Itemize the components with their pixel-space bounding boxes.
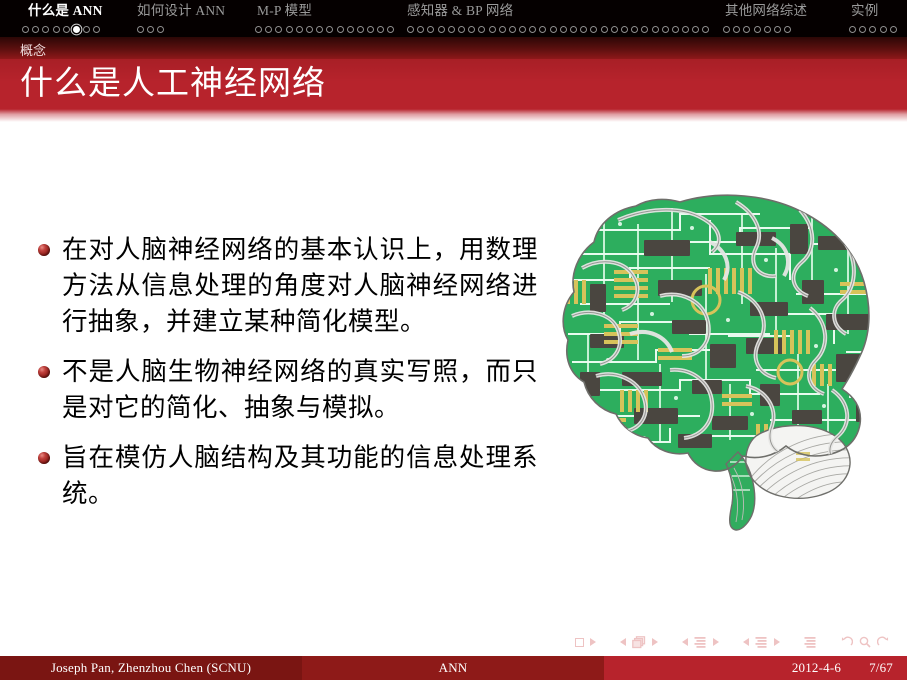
- nav-section-dots-5[interactable]: [849, 22, 900, 36]
- frame-next-icon[interactable]: [652, 638, 658, 646]
- nav-dot[interactable]: [764, 26, 771, 33]
- bullet-marker-icon: [38, 366, 50, 378]
- nav-dot[interactable]: [499, 26, 506, 33]
- section-navigation-items: 什么是 ANN如何设计 ANNM-P 模型感知器 & BP 网络其他网络综述实例: [0, 0, 907, 37]
- nav-dot[interactable]: [22, 26, 29, 33]
- nav-section-dots-1[interactable]: [137, 22, 168, 36]
- nav-section-label: 其他网络综述: [725, 3, 807, 18]
- nav-section-label: 如何设计 ANN: [137, 3, 225, 18]
- nav-dot[interactable]: [407, 26, 414, 33]
- nav-dot[interactable]: [859, 26, 866, 33]
- nav-section-2[interactable]: M-P 模型: [257, 0, 312, 18]
- nav-dot[interactable]: [723, 26, 730, 33]
- nav-dot[interactable]: [621, 26, 628, 33]
- subsection-title: 概念: [20, 40, 46, 59]
- nav-dot[interactable]: [489, 26, 496, 33]
- nav-dot-current[interactable]: [73, 26, 80, 33]
- nav-dot[interactable]: [560, 26, 567, 33]
- nav-dot[interactable]: [147, 26, 154, 33]
- search-icon[interactable]: [859, 636, 871, 648]
- footer-title: ANN: [302, 656, 604, 680]
- section-next-icon[interactable]: [774, 638, 780, 646]
- nav-dot[interactable]: [733, 26, 740, 33]
- page-title: 什么是人工神经网络: [20, 63, 326, 105]
- nav-dot[interactable]: [275, 26, 282, 33]
- section-prev-icon[interactable]: [743, 638, 749, 646]
- nav-dot[interactable]: [519, 26, 526, 33]
- subsection-bar: 概念: [0, 37, 907, 59]
- nav-dot[interactable]: [326, 26, 333, 33]
- nav-dot[interactable]: [286, 26, 293, 33]
- bullet-text: 不是人脑生物神经网络的真实写照，而只是对它的简化、抽象与模拟。: [62, 354, 538, 426]
- nav-dot[interactable]: [296, 26, 303, 33]
- nav-dot[interactable]: [137, 26, 144, 33]
- nav-dot[interactable]: [438, 26, 445, 33]
- nav-dot[interactable]: [869, 26, 876, 33]
- footer-meta: 2012-4-6 7/67: [604, 656, 907, 680]
- bullet-item: 旨在模仿人脑结构及其功能的信息处理系统。: [38, 440, 538, 512]
- nav-dot[interactable]: [539, 26, 546, 33]
- slide-root: 什么是 ANN如何设计 ANNM-P 模型感知器 & BP 网络其他网络综述实例…: [0, 0, 907, 680]
- nav-dot[interactable]: [849, 26, 856, 33]
- nav-dot[interactable]: [652, 26, 659, 33]
- nav-section-1[interactable]: 如何设计 ANN: [137, 0, 225, 18]
- nav-dot[interactable]: [377, 26, 384, 33]
- nav-dot[interactable]: [590, 26, 597, 33]
- nav-dot[interactable]: [682, 26, 689, 33]
- nav-dot[interactable]: [631, 26, 638, 33]
- nav-dot[interactable]: [774, 26, 781, 33]
- document-icon[interactable]: [804, 636, 817, 649]
- nav-dot[interactable]: [157, 26, 164, 33]
- nav-dot[interactable]: [784, 26, 791, 33]
- nav-dot[interactable]: [478, 26, 485, 33]
- section-navigation-bar: 什么是 ANN如何设计 ANNM-P 模型感知器 & BP 网络其他网络综述实例: [0, 0, 907, 37]
- bullet-list: 在对人脑神经网络的基本认识上，用数理方法从信息处理的角度对人脑神经网络进行抽象，…: [38, 232, 538, 526]
- nav-dot[interactable]: [611, 26, 618, 33]
- nav-dot[interactable]: [754, 26, 761, 33]
- nav-dot[interactable]: [601, 26, 608, 33]
- frame-title-bar: 什么是人工神经网络: [0, 59, 907, 109]
- nav-dot[interactable]: [337, 26, 344, 33]
- subsection-next-icon[interactable]: [713, 638, 719, 646]
- nav-dot[interactable]: [692, 26, 699, 33]
- nav-dot[interactable]: [53, 26, 60, 33]
- slide-footer: Joseph Pan, Zhenzhou Chen (SCNU) ANN 201…: [0, 656, 907, 680]
- brain-circuit-fill: [560, 184, 900, 544]
- frame-icon[interactable]: [632, 636, 646, 649]
- nav-section-5[interactable]: 实例: [851, 0, 878, 18]
- bullet-text: 在对人脑神经网络的基本认识上，用数理方法从信息处理的角度对人脑神经网络进行抽象，…: [62, 232, 538, 340]
- nav-dot[interactable]: [458, 26, 465, 33]
- nav-dot[interactable]: [387, 26, 394, 33]
- nav-dot[interactable]: [265, 26, 272, 33]
- nav-section-dots-4[interactable]: [723, 22, 794, 36]
- nav-dot[interactable]: [509, 26, 516, 33]
- nav-dot[interactable]: [448, 26, 455, 33]
- nav-dot[interactable]: [529, 26, 536, 33]
- nav-section-3[interactable]: 感知器 & BP 网络: [407, 0, 513, 18]
- nav-dot[interactable]: [743, 26, 750, 33]
- nav-section-dots-3[interactable]: [407, 22, 713, 36]
- nav-dot[interactable]: [468, 26, 475, 33]
- slide-content: 在对人脑神经网络的基本认识上，用数理方法从信息处理的角度对人脑神经网络进行抽象，…: [0, 122, 907, 632]
- nav-dot[interactable]: [255, 26, 262, 33]
- nav-dot[interactable]: [417, 26, 424, 33]
- nav-dot[interactable]: [367, 26, 374, 33]
- bullet-text: 旨在模仿人脑结构及其功能的信息处理系统。: [62, 440, 538, 512]
- nav-section-label: 什么是 ANN: [28, 3, 103, 18]
- bullet-item: 不是人脑生物神经网络的真实写照，而只是对它的简化、抽象与模拟。: [38, 354, 538, 426]
- forward-icon[interactable]: [877, 636, 889, 648]
- footer-author: Joseph Pan, Zhenzhou Chen (SCNU): [0, 656, 302, 680]
- nav-dot[interactable]: [32, 26, 39, 33]
- nav-dot[interactable]: [641, 26, 648, 33]
- beamer-navigation-symbols[interactable]: [575, 632, 889, 652]
- nav-dot[interactable]: [570, 26, 577, 33]
- nav-section-dots-2[interactable]: [255, 22, 398, 36]
- nav-dot[interactable]: [427, 26, 434, 33]
- subsection-icon[interactable]: [694, 636, 707, 649]
- nav-dot[interactable]: [306, 26, 313, 33]
- nav-section-label: 感知器 & BP 网络: [407, 3, 513, 18]
- nav-section-0[interactable]: 什么是 ANN: [28, 0, 103, 18]
- nav-dot[interactable]: [83, 26, 90, 33]
- nav-dot[interactable]: [42, 26, 49, 33]
- nav-section-label: 实例: [851, 3, 878, 18]
- bullet-item: 在对人脑神经网络的基本认识上，用数理方法从信息处理的角度对人脑神经网络进行抽象，…: [38, 232, 538, 340]
- circuit-board-brain-illustration: [560, 184, 900, 544]
- nav-dot[interactable]: [580, 26, 587, 33]
- nav-dot[interactable]: [702, 26, 709, 33]
- nav-section-4[interactable]: 其他网络综述: [725, 0, 807, 18]
- nav-dot[interactable]: [880, 26, 887, 33]
- back-icon[interactable]: [841, 636, 853, 648]
- nav-dot[interactable]: [347, 26, 354, 33]
- subsection-prev-icon[interactable]: [682, 638, 688, 646]
- footer-date: 2012-4-6: [792, 660, 841, 676]
- title-bar-fade: [0, 109, 907, 122]
- nav-dot[interactable]: [63, 26, 70, 33]
- nav-dot[interactable]: [357, 26, 364, 33]
- nav-section-dots-0[interactable]: [22, 22, 104, 36]
- nav-dot[interactable]: [93, 26, 100, 33]
- footer-page-number: 7/67: [869, 660, 893, 676]
- slide-next-icon[interactable]: [590, 638, 596, 646]
- slide-first-icon[interactable]: [575, 638, 584, 647]
- nav-dot[interactable]: [550, 26, 557, 33]
- bullet-marker-icon: [38, 452, 50, 464]
- frame-prev-icon[interactable]: [620, 638, 626, 646]
- nav-dot[interactable]: [672, 26, 679, 33]
- nav-dot[interactable]: [890, 26, 897, 33]
- nav-dot[interactable]: [662, 26, 669, 33]
- nav-dot[interactable]: [316, 26, 323, 33]
- section-icon[interactable]: [755, 636, 768, 649]
- bullet-marker-icon: [38, 244, 50, 256]
- nav-section-label: M-P 模型: [257, 3, 312, 18]
